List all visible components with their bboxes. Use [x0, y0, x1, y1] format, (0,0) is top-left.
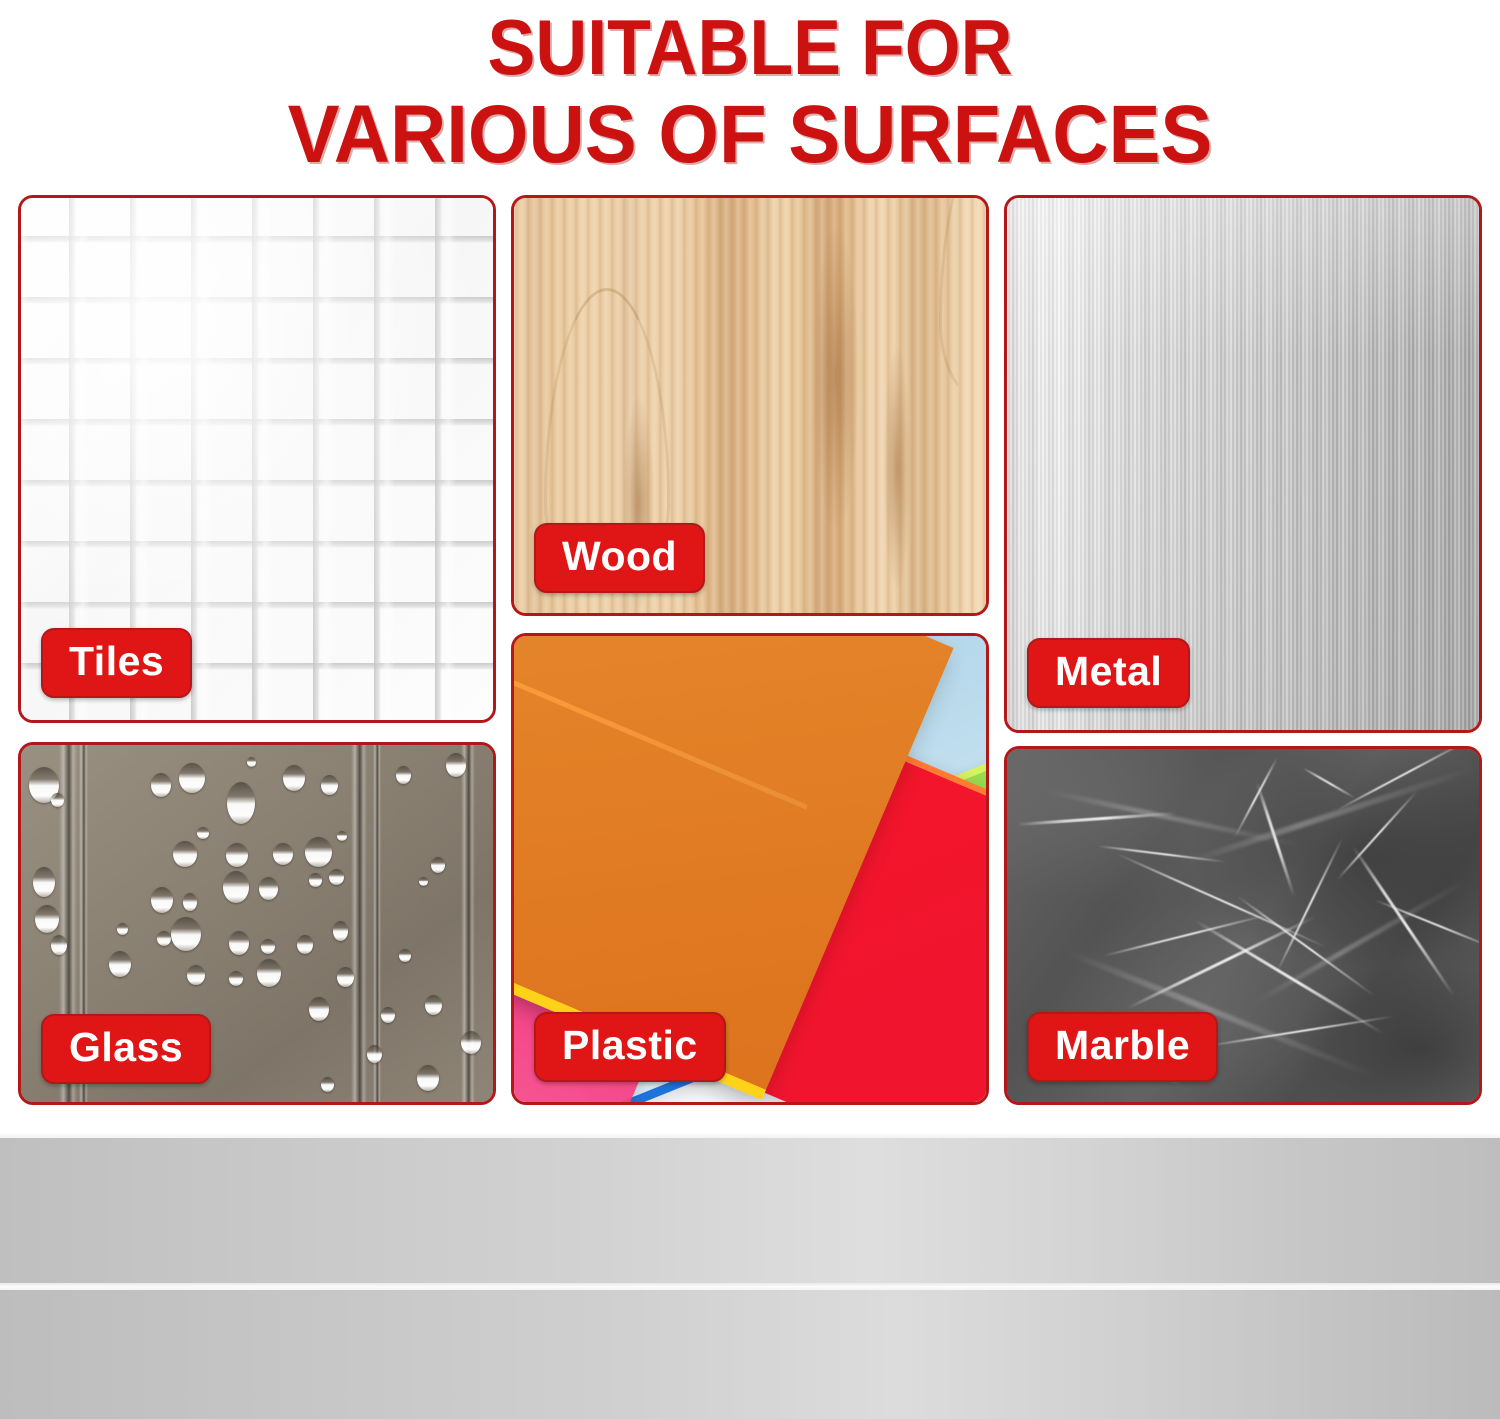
surface-panel-glass: Glass: [18, 742, 496, 1105]
water-droplet: [261, 939, 275, 954]
water-droplet: [157, 931, 171, 946]
water-droplet: [227, 782, 255, 824]
surface-label-glass: Glass: [41, 1014, 211, 1084]
water-droplet: [321, 775, 338, 795]
water-droplet: [399, 949, 411, 962]
headline-block: SUITABLE FOR VARIOUS OF SURFACES: [0, 0, 1500, 186]
glass-streak-3: [351, 745, 367, 1102]
water-droplet: [337, 967, 354, 987]
water-droplet: [117, 923, 128, 935]
water-droplet: [151, 887, 173, 913]
wood-knot-1: [814, 228, 858, 528]
water-droplet: [446, 753, 466, 777]
water-droplet: [173, 841, 197, 867]
water-droplet: [297, 935, 313, 954]
surface-label-wood: Wood: [534, 523, 705, 593]
surface-label-plastic: Plastic: [534, 1012, 726, 1082]
surface-label-tiles: Tiles: [41, 628, 192, 698]
headline-line-2: VARIOUS OF SURFACES: [38, 90, 1463, 180]
water-droplet: [283, 765, 305, 791]
water-droplet: [33, 867, 55, 897]
water-droplet: [305, 837, 332, 867]
water-droplet: [187, 965, 205, 985]
surface-panel-tiles: Tiles: [18, 195, 496, 723]
water-droplet: [461, 1031, 481, 1054]
wood-knot-2: [884, 348, 910, 588]
surface-panel-grid: Tiles Wood Metal: [0, 186, 1500, 1116]
surface-label-marble: Marble: [1027, 1012, 1218, 1082]
water-droplet: [425, 995, 442, 1015]
water-droplet: [337, 831, 347, 841]
strip-band-upper: [0, 1138, 1500, 1286]
water-droplet: [417, 1065, 439, 1091]
surface-panel-marble: Marble: [1004, 746, 1482, 1105]
surface-panel-wood: Wood: [511, 195, 989, 616]
surface-label-metal: Metal: [1027, 638, 1190, 708]
water-droplet: [273, 843, 293, 865]
water-droplet: [229, 931, 249, 955]
water-droplet: [367, 1045, 382, 1063]
water-droplet: [329, 869, 344, 885]
water-droplet: [259, 877, 278, 900]
water-droplet: [396, 766, 411, 784]
water-droplet: [51, 935, 67, 955]
water-droplet: [257, 959, 281, 987]
water-droplet: [229, 971, 243, 986]
water-droplet: [431, 857, 445, 873]
water-droplet: [197, 827, 209, 839]
water-droplet: [35, 905, 59, 933]
product-edge-strip: [0, 1133, 1500, 1419]
water-droplet: [419, 877, 428, 886]
water-droplet: [183, 893, 197, 911]
water-droplet: [309, 873, 322, 887]
water-droplet: [179, 763, 205, 793]
water-droplet: [109, 951, 131, 977]
water-droplet: [309, 997, 329, 1021]
water-droplet: [171, 917, 201, 951]
headline-line-1: SUITABLE FOR: [60, 4, 1440, 90]
water-droplet: [51, 793, 64, 807]
water-droplet: [247, 757, 256, 767]
water-droplet: [223, 871, 249, 903]
surface-panel-metal: Metal: [1004, 195, 1482, 733]
strip-band-lower: [0, 1290, 1500, 1419]
water-droplet: [226, 843, 248, 867]
water-droplet: [321, 1077, 334, 1092]
water-droplet: [381, 1007, 395, 1023]
surface-panel-plastic: Plastic: [511, 633, 989, 1105]
water-droplet: [333, 921, 348, 941]
water-droplet: [151, 773, 171, 797]
